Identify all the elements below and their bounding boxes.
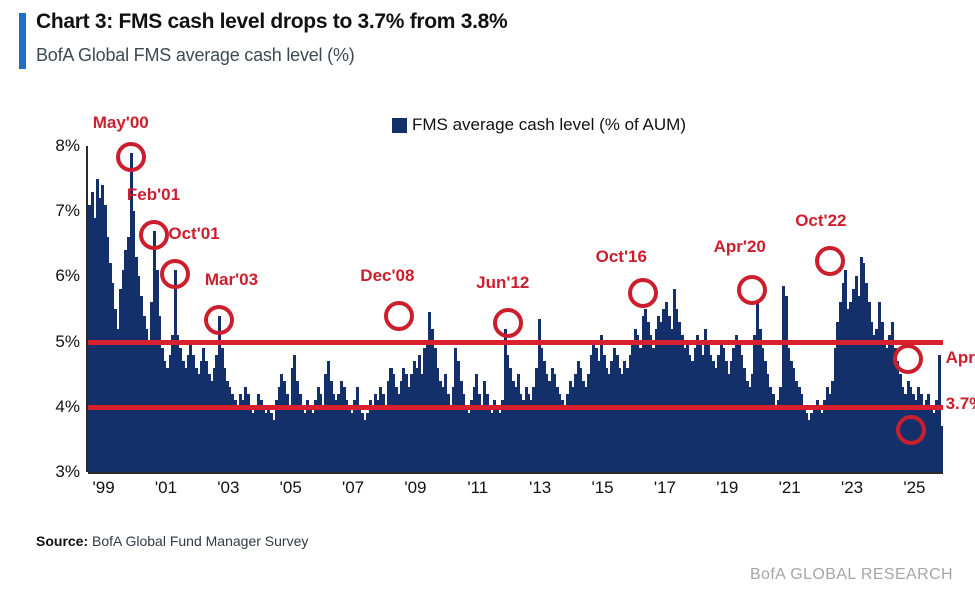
annotation-circle: [893, 344, 923, 374]
source-note: Source: BofA Global Fund Manager Survey: [36, 533, 308, 549]
annotation-label: Oct'22: [795, 211, 846, 231]
y-axis-label: 7%: [55, 201, 80, 221]
chart-legend: FMS average cash level (% of AUM): [392, 115, 686, 135]
x-axis-label: '11: [467, 478, 488, 498]
annotation-circle: [896, 415, 926, 445]
x-axis-label: '23: [841, 478, 863, 498]
watermark: BofA GLOBAL RESEARCH: [750, 566, 953, 584]
x-axis-label: '21: [779, 478, 801, 498]
annotation-label: Jun'12: [476, 273, 529, 293]
annotation-label: May'00: [93, 113, 149, 133]
annotation-label: Oct'01: [168, 224, 219, 244]
bar: [940, 426, 943, 472]
y-axis-label: 6%: [55, 266, 80, 286]
annotation-label: Oct'16: [596, 247, 647, 267]
annotation-circle: [384, 301, 414, 331]
annotation-circle: [815, 246, 845, 276]
y-axis-label: 4%: [55, 397, 80, 417]
x-axis-label: '09: [404, 478, 426, 498]
annotation-circle: [160, 259, 190, 289]
chart-subtitle: BofA Global FMS average cash level (%): [36, 45, 355, 66]
annotation-circle: [204, 305, 234, 335]
annotation-label: Apr'20: [714, 237, 766, 257]
source-text: BofA Global Fund Manager Survey: [88, 533, 308, 549]
title-accent-bar: [19, 13, 26, 69]
annotation-label: Mar'03: [205, 270, 258, 290]
x-axis-label: '03: [217, 478, 239, 498]
axis-line: [88, 472, 943, 474]
annotation-circle: [493, 308, 523, 338]
annotation-circle: [139, 220, 169, 250]
annotation-circle: [628, 278, 658, 308]
x-axis-label: '17: [654, 478, 676, 498]
axis-line: [86, 146, 88, 472]
source-label: Source:: [36, 533, 88, 549]
annotation-label: Apr'25: [946, 348, 975, 368]
page-title: Chart 3: FMS cash level drops to 3.7% fr…: [36, 10, 507, 34]
reference-line: [88, 340, 943, 345]
y-axis-label: 8%: [55, 136, 80, 156]
x-axis-label: '99: [93, 478, 115, 498]
legend-label-fms-cash: FMS average cash level (% of AUM): [412, 115, 686, 135]
y-axis-tick-labels: 3%4%5%6%7%8%: [18, 146, 80, 472]
y-axis-label: 5%: [55, 332, 80, 352]
x-axis-label: '13: [529, 478, 551, 498]
annotation-circle: [116, 142, 146, 172]
annotation-label: 3.7%: [946, 394, 975, 414]
legend-swatch-fms-cash: [392, 118, 407, 133]
annotation-label: Feb'01: [127, 185, 180, 205]
x-axis-label: '15: [591, 478, 613, 498]
x-axis-label: '01: [155, 478, 177, 498]
y-axis-label: 3%: [55, 462, 80, 482]
x-axis-label: '25: [903, 478, 925, 498]
reference-line: [88, 405, 943, 410]
annotation-label: Dec'08: [360, 266, 414, 286]
annotation-circle: [737, 275, 767, 305]
x-axis-label: '07: [342, 478, 364, 498]
x-axis-label: '05: [280, 478, 302, 498]
x-axis-label: '19: [716, 478, 738, 498]
